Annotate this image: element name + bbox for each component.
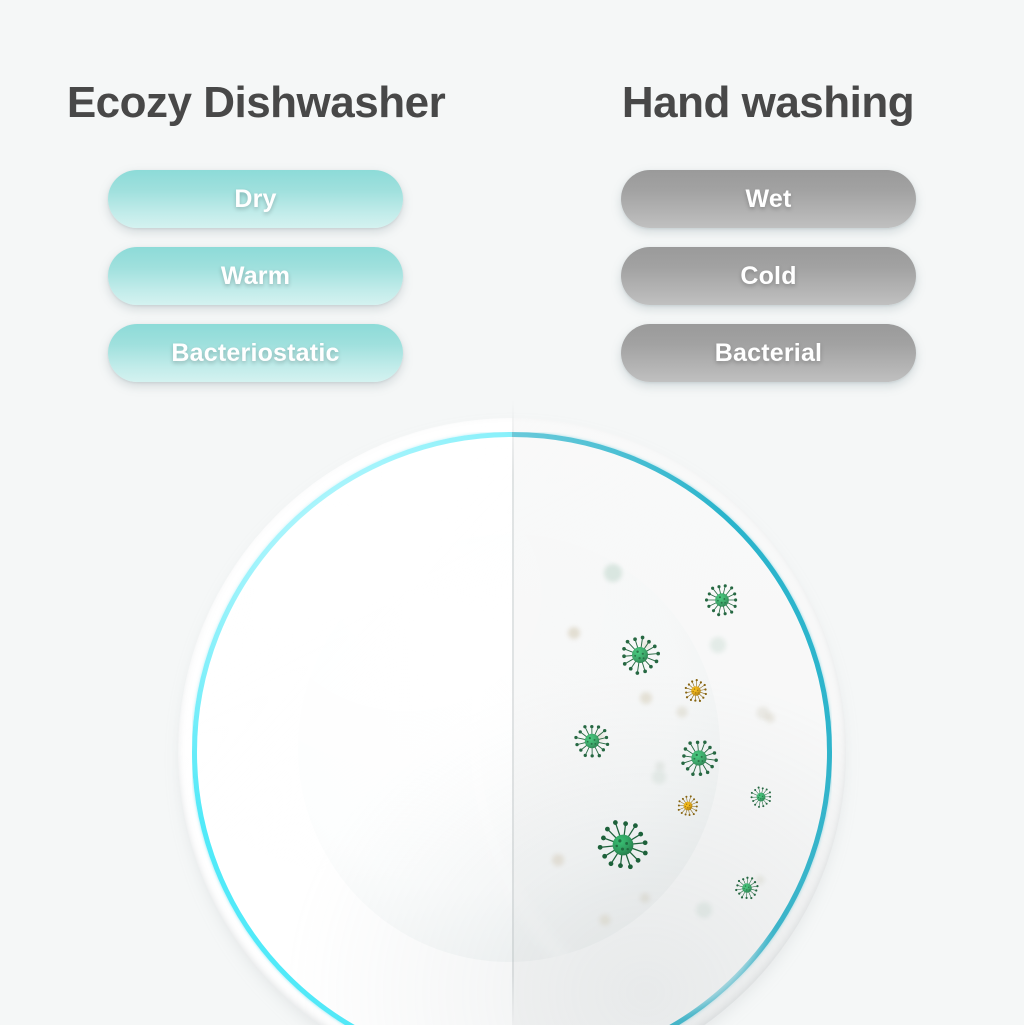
- comparison-infographic: Ecozy Dishwasher Hand washing Dry Warm B…: [0, 0, 1024, 1025]
- column-title-handwashing: Hand washing: [512, 78, 1024, 128]
- feature-pill-label: Wet: [746, 185, 792, 214]
- feature-pill-wet: Wet: [621, 170, 916, 228]
- column-title-dishwasher: Ecozy Dishwasher: [0, 78, 512, 128]
- feature-pill-cold: Cold: [621, 247, 916, 305]
- feature-pill-warm: Warm: [108, 247, 403, 305]
- feature-pill-bacterial: Bacterial: [621, 324, 916, 382]
- feature-pill-label: Cold: [740, 262, 796, 291]
- feature-pill-label: Dry: [234, 185, 276, 214]
- feature-pill-label: Warm: [221, 262, 290, 291]
- feature-pill-dry: Dry: [108, 170, 403, 228]
- plate-illustration: [178, 418, 846, 1025]
- plate-well: [298, 534, 720, 962]
- feature-pill-label: Bacterial: [715, 339, 822, 368]
- feature-pill-bacteriostatic: Bacteriostatic: [108, 324, 403, 382]
- feature-pill-label: Bacteriostatic: [171, 339, 339, 368]
